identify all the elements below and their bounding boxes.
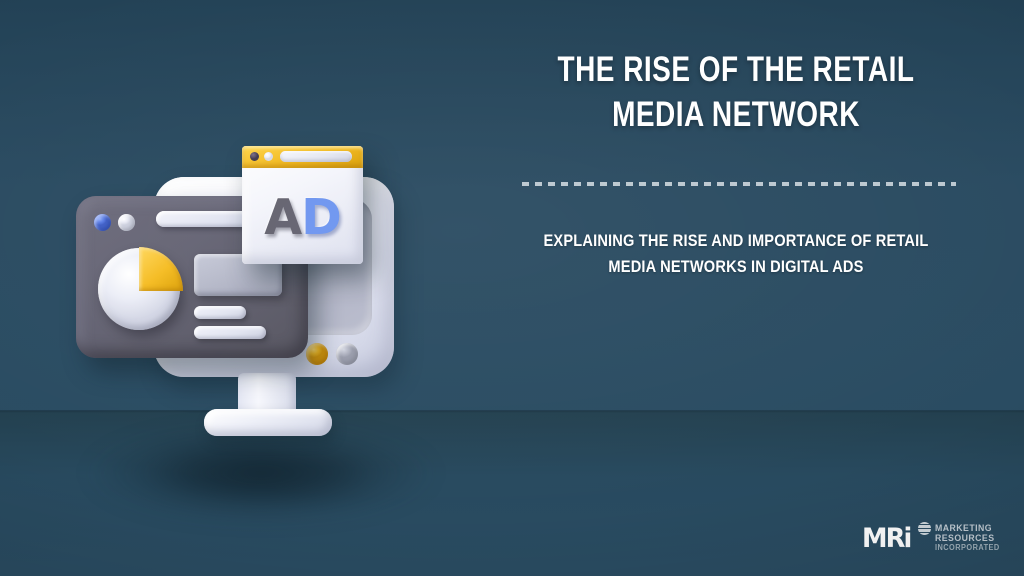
slide-canvas: A D THE RISE OF THE RETAIL MEDIA NETWORK… [0,0,1024,576]
vignette-overlay [0,0,1024,576]
